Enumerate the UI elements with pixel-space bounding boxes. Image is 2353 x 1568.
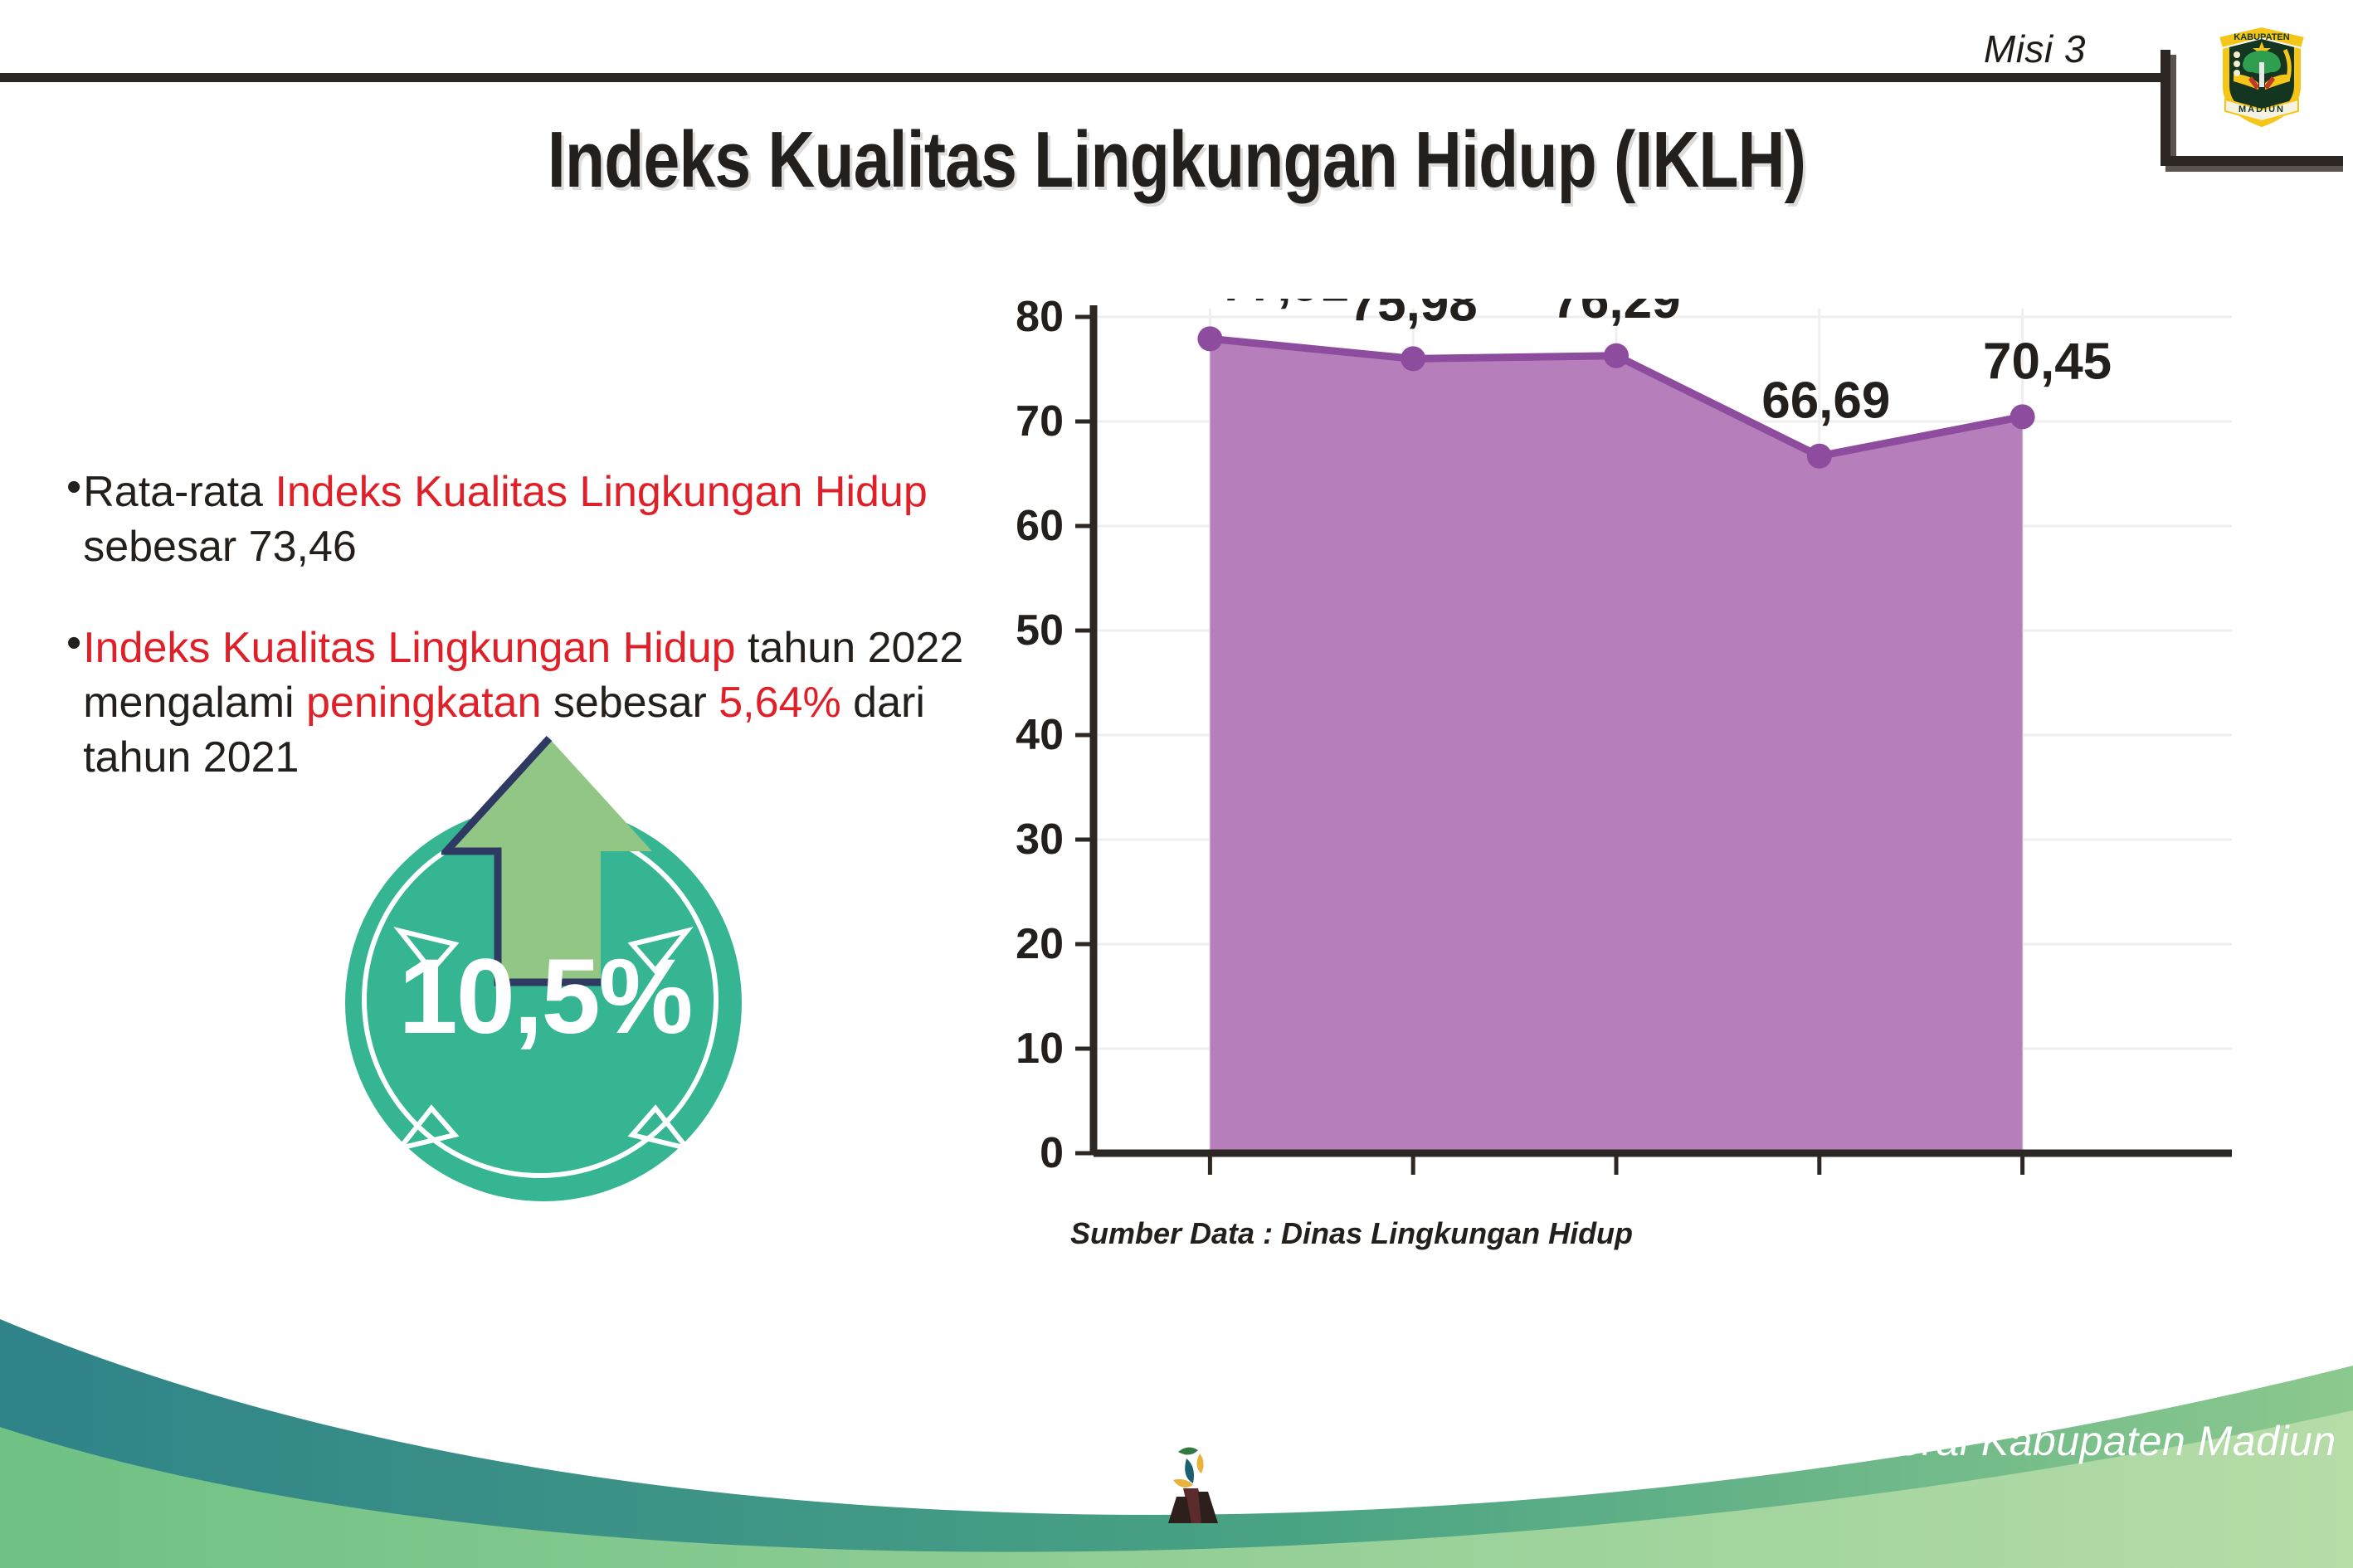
header-divider-rule xyxy=(0,73,2167,82)
bullet-marker: • xyxy=(66,621,81,665)
y-axis-tick-label: 0 xyxy=(1040,1129,1064,1177)
y-axis-tick-label: 10 xyxy=(1016,1025,1064,1073)
y-axis-tick-label: 60 xyxy=(1016,502,1064,550)
chart-source-note: Sumber Data : Dinas Lingkungan Hidup xyxy=(1070,1216,1633,1251)
y-axis-tick-label: 40 xyxy=(1016,711,1064,759)
highlighted-text: Indeks Kualitas Lingkungan Hidup xyxy=(275,468,927,516)
y-axis-tick-label: 30 xyxy=(1016,816,1064,864)
highlighted-text: peningkatan xyxy=(306,679,541,727)
chart-area-fill xyxy=(1210,338,2022,1153)
bullet-marker: • xyxy=(66,465,81,509)
y-axis-tick-label: 50 xyxy=(1016,606,1064,655)
y-axis-tick-label: 80 xyxy=(1016,299,1064,341)
media-infografis-logo-icon xyxy=(1153,1437,1236,1528)
bullet-text-average: Rata-rata Indeks Kualitas Lingkungan Hid… xyxy=(83,465,971,574)
highlighted-text: 5,64% xyxy=(719,679,840,727)
badge-value-label: 10,5% xyxy=(325,936,765,1058)
page-title: Indeks Kualitas Lingkungan Hidup (IKLH) xyxy=(212,114,2141,206)
plain-text: sebesar xyxy=(541,679,719,727)
data-point-marker xyxy=(1197,326,1222,351)
logo-top-label: KABUPATEN xyxy=(2234,32,2289,42)
data-point-label: 75,98 xyxy=(1349,299,1478,332)
data-point-marker xyxy=(1401,346,1425,371)
y-axis-tick-label: 20 xyxy=(1016,920,1064,968)
footer-caption: Media Infografis Data Statistik Sektoral… xyxy=(1238,1417,2353,1513)
data-point-marker xyxy=(1807,444,1832,469)
data-point-label: 76,29 xyxy=(1552,299,1680,329)
data-point-label: 77,91 xyxy=(1220,299,1348,312)
data-point-label: 66,69 xyxy=(1761,373,1890,430)
bullet-item-average: • Rata-rata Indeks Kualitas Lingkungan H… xyxy=(66,465,971,574)
data-point-label: 70,45 xyxy=(1983,333,2112,390)
data-point-marker xyxy=(1604,343,1629,368)
logo-bottom-label: MADIUN xyxy=(2239,105,2285,114)
data-point-marker xyxy=(2010,404,2035,429)
misi-label: Misi 3 xyxy=(1984,27,2086,71)
iklh-area-chart: 010203040506070802018201920202021202277,… xyxy=(987,299,2232,1178)
kabupaten-madiun-logo-icon: KABUPATEN MADIUN xyxy=(2212,17,2312,133)
plain-text: sebesar 73,46 xyxy=(83,523,357,571)
y-axis-tick-label: 70 xyxy=(1016,397,1064,446)
highlighted-text: Indeks Kualitas Lingkungan Hidup xyxy=(83,624,735,672)
growth-badge: 10,5% xyxy=(325,752,773,1200)
plain-text: Rata-rata xyxy=(83,468,275,516)
